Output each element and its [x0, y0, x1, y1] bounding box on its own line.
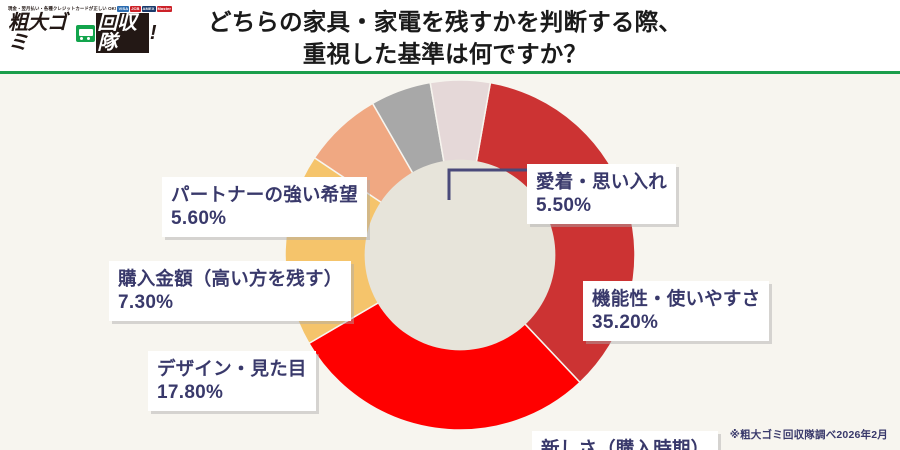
callout-aichaku[interactable]: 愛着・思い入れ 5.50%: [527, 164, 676, 224]
logo-text-secondary: 回収隊: [96, 13, 149, 53]
source-footnote: ※粗大ゴミ回収隊調べ2026年2月: [730, 427, 888, 442]
logo-exclamation: !: [150, 23, 156, 43]
callout-kingaku-value: 7.30%: [118, 291, 342, 315]
page-header: 現金・翌月払い・各種クレジットカードが正しい OK!VISAJCBAMEXMas…: [0, 0, 900, 74]
callout-kingaku-label: 購入金額（高い方を残す）: [118, 266, 342, 291]
page-title-line-1: どちらの家具・家電を残すかを判断する際、: [165, 6, 725, 38]
callout-design-value: 17.80%: [157, 381, 307, 405]
callout-partner-value: 5.60%: [171, 207, 358, 231]
page-title-line-2: 重視した基準は何ですか？: [165, 38, 725, 70]
callout-kingaku[interactable]: 購入金額（高い方を残す） 7.30%: [109, 261, 351, 321]
callout-design-label: デザイン・見た目: [157, 356, 307, 381]
page-title: どちらの家具・家電を残すかを判断する際、 重視した基準は何ですか？: [165, 6, 725, 70]
callout-atarashisa-label: 新しさ（購入時期）: [541, 436, 709, 450]
callout-kinousei[interactable]: 機能性・使いやすさ 35.20%: [583, 281, 769, 341]
card-badge-amex: AMEX: [142, 6, 156, 12]
slide-canvas: 現金・翌月払い・各種クレジットカードが正しい OK!VISAJCBAMEXMas…: [0, 0, 900, 450]
chart-area: 愛着・思い入れ 5.50% 機能性・使いやすさ 35.20% 新しさ（購入時期）…: [0, 74, 900, 450]
callout-aichaku-value: 5.50%: [536, 194, 667, 218]
callout-atarashisa[interactable]: 新しさ（購入時期） 28.60%: [532, 431, 718, 450]
brand-logo[interactable]: 現金・翌月払い・各種クレジットカードが正しい OK!VISAJCBAMEXMas…: [8, 6, 156, 53]
donut-chart-svg: [285, 80, 635, 430]
callout-design[interactable]: デザイン・見た目 17.80%: [148, 351, 316, 411]
truck-icon: [76, 25, 95, 42]
callout-partner[interactable]: パートナーの強い希望 5.60%: [162, 177, 367, 237]
logo-wordmark: 粗大ゴミ 回収隊 !: [8, 13, 156, 53]
donut-chart: [285, 80, 635, 430]
callout-kinousei-value: 35.20%: [592, 311, 760, 335]
callout-kinousei-label: 機能性・使いやすさ: [592, 286, 760, 311]
callout-partner-label: パートナーの強い希望: [171, 182, 358, 207]
callout-aichaku-label: 愛着・思い入れ: [536, 169, 667, 194]
logo-text-primary: 粗大ゴミ: [8, 13, 75, 53]
